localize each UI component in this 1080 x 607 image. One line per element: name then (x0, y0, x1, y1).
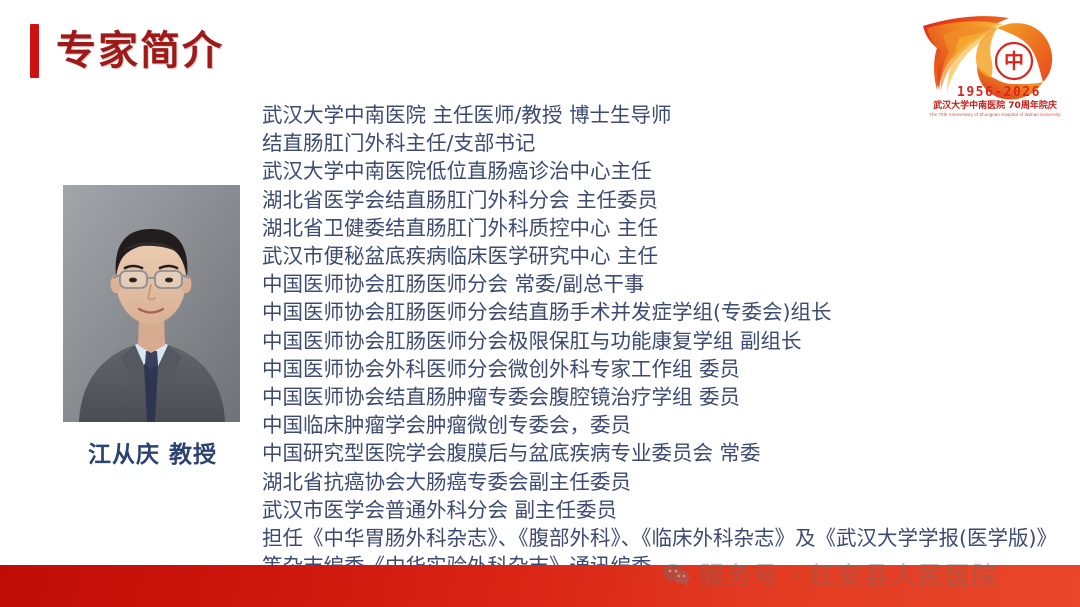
footer-bar (0, 565, 1080, 607)
bio-line: 结直肠肛门外科主任/支部书记 (262, 129, 1074, 157)
bio-line: 中国研究型医院学会腹膜后与盆底疾病专业委员会 常委 (262, 439, 1074, 467)
profile-name: 江从庆 教授 (0, 435, 305, 469)
title-accent-bar (30, 24, 39, 78)
page-title-text: 专家简介 (56, 31, 224, 71)
bio-line: 武汉大学中南医院低位直肠癌诊治中心主任 (262, 157, 1074, 185)
bio-line: 中国医师协会肛肠医师分会极限保肛与功能康复学组 副组长 (262, 327, 1074, 355)
bio-line: 武汉市便秘盆底疾病临床医学研究中心 主任 (262, 242, 1074, 270)
logo-years: 1956-2026 (957, 85, 1041, 100)
page-title: 专家简介 (30, 24, 224, 78)
bio-line: 武汉大学中南医院 主任医师/教授 博士生导师 (262, 101, 1074, 129)
svg-text:中: 中 (1004, 49, 1024, 73)
bio-line: 武汉市医学会普通外科分会 副主任委员 (262, 496, 1074, 524)
bio-line: 中国医师协会肛肠医师分会结直肠手术并发症学组(专委会)组长 (262, 298, 1074, 326)
bio-line: 中国医师协会外科医师分会微创外科专家工作组 委员 (262, 355, 1074, 383)
bio-line: 湖北省卫健委结直肠肛门外科质控中心 主任 (262, 214, 1074, 242)
logo-monogram: 中 (996, 43, 1032, 79)
bio-line: 湖北省抗癌协会大肠癌专委会副主任委员 (262, 468, 1074, 496)
bio-line: 中国临床肿瘤学会肿瘤微创专委会，委员 (262, 411, 1074, 439)
bio-line: 湖北省医学会结直肠肛门外科分会 主任委员 (262, 186, 1074, 214)
avatar (63, 185, 240, 422)
slide-canvas: 专家简介 (0, 0, 1080, 607)
bio-line: 中国医师协会结直肠肿瘤专委会腹腔镜治疗学组 委员 (262, 383, 1074, 411)
bio-text-block: 武汉大学中南医院 主任医师/教授 博士生导师 结直肠肛门外科主任/支部书记 武汉… (262, 101, 1074, 580)
bio-line: 中国医师协会肛肠医师分会 常委/副总干事 (262, 270, 1074, 298)
